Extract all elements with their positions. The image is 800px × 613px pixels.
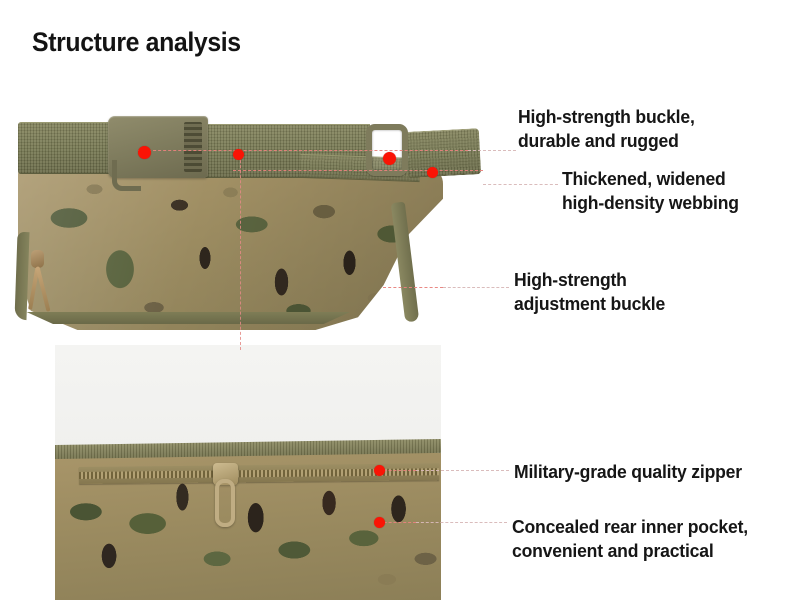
marker-dot-zipper[interactable] — [374, 465, 385, 476]
zipper-pull-tab — [215, 479, 235, 527]
marker-dot-webbing[interactable] — [233, 149, 244, 160]
callout-label-inner-pocket: Concealed rear inner pocket, convenient … — [512, 515, 748, 562]
callout-label-webbing: Thickened, widened high-density webbing — [562, 167, 739, 214]
bag-body-camo — [18, 170, 443, 330]
leader-line-webbing — [233, 170, 483, 171]
leader-line-adjustment-red — [383, 287, 443, 288]
leader-line-vertical-connector — [240, 150, 241, 350]
marker-dot-inner-pocket[interactable] — [374, 517, 385, 528]
callout-label-zipper: Military-grade quality zipper — [514, 460, 742, 484]
callout-label-buckle: High-strength buckle, durable and rugged — [518, 105, 695, 152]
leader-line-webbing-tail — [483, 184, 558, 185]
leader-line-adjustment — [443, 287, 509, 288]
side-release-buckle-icon — [108, 116, 208, 178]
leader-line-buckle-tail — [468, 150, 516, 151]
drawstring-cord — [28, 250, 50, 312]
leader-line-buckle — [138, 150, 468, 151]
marker-dot-buckle[interactable] — [138, 146, 151, 159]
leader-line-zipper — [416, 470, 509, 471]
page-title: Structure analysis — [32, 27, 241, 58]
cord-knot — [31, 250, 44, 268]
webbing-strap-left — [18, 122, 113, 174]
callout-label-adjustment: High-strength adjustment buckle — [514, 268, 665, 315]
leader-line-inner-pocket — [416, 522, 507, 523]
bag-bottom-binding — [20, 312, 350, 324]
marker-dot-adjustment[interactable] — [383, 152, 396, 165]
marker-dot-webbing-end[interactable] — [427, 167, 438, 178]
